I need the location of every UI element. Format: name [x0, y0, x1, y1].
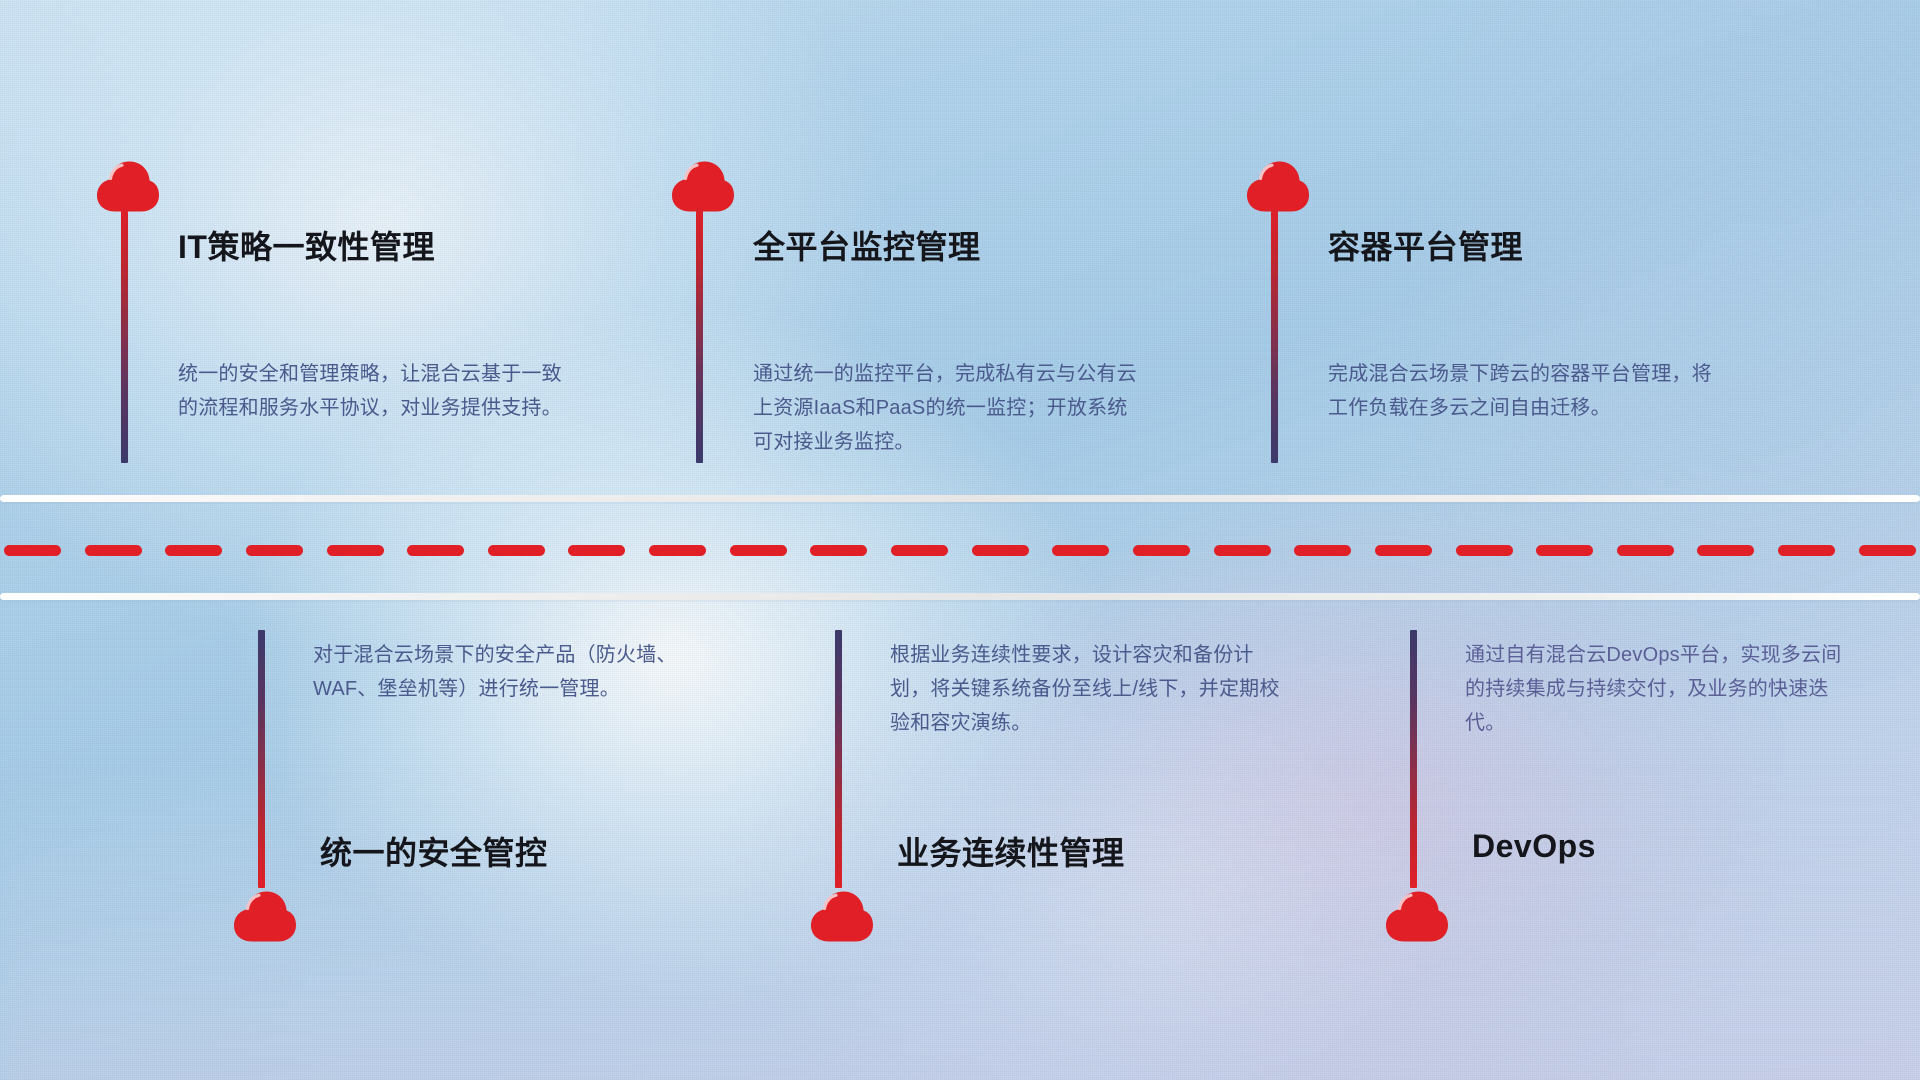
road-line-lower	[0, 593, 1920, 600]
cloud-icon	[1384, 890, 1450, 942]
bottom-item-2-title: 业务连续性管理	[897, 828, 1125, 874]
connector-stem	[258, 630, 265, 888]
road-dash	[972, 545, 1029, 556]
bottom-item-3-title: DevOps	[1472, 828, 1596, 865]
top-item-1-description: 统一的安全和管理策略，让混合云基于一致的流程和服务水平协议，对业务提供支持。	[178, 357, 568, 425]
road-line-upper	[0, 495, 1920, 502]
top-item-3-description: 完成混合云场景下跨云的容器平台管理，将工作负载在多云之间自由迁移。	[1328, 357, 1718, 425]
road-dash	[1859, 545, 1916, 556]
connector-stem	[1410, 630, 1417, 888]
cloud-icon	[1245, 160, 1311, 212]
road-dash	[730, 545, 787, 556]
road-dash	[1536, 545, 1593, 556]
top-item-2-description: 通过统一的监控平台，完成私有云与公有云上资源IaaS和PaaS的统一监控；开放系…	[753, 357, 1143, 459]
road-dash	[246, 545, 303, 556]
cloud-icon	[809, 890, 875, 942]
top-item-2-title: 全平台监控管理	[753, 222, 981, 268]
connector-stem	[121, 205, 128, 463]
road-dash	[1294, 545, 1351, 556]
cloud-icon	[232, 890, 298, 942]
connector-stem	[696, 205, 703, 463]
road-dash	[1052, 545, 1109, 556]
road-dash	[1456, 545, 1513, 556]
road-dashed-divider	[0, 545, 1920, 556]
bottom-item-1-title: 统一的安全管控	[320, 828, 548, 874]
road-dash	[327, 545, 384, 556]
road-dash	[1214, 545, 1271, 556]
bottom-item-3-description: 通过自有混合云DevOps平台，实现多云间的持续集成与持续交付，及业务的快速迭代…	[1465, 638, 1855, 740]
road-dash	[1375, 545, 1432, 556]
road-dash	[4, 545, 61, 556]
road-dash	[85, 545, 142, 556]
connector-stem	[835, 630, 842, 888]
road-dash	[165, 545, 222, 556]
road-dash	[407, 545, 464, 556]
bottom-item-1-description: 对于混合云场景下的安全产品（防火墙、WAF、堡垒机等）进行统一管理。	[313, 638, 703, 706]
infographic-canvas: IT策略一致性管理 统一的安全和管理策略，让混合云基于一致的流程和服务水平协议，…	[0, 0, 1920, 1080]
road-dash	[1697, 545, 1754, 556]
top-item-1-title: IT策略一致性管理	[178, 222, 435, 268]
road-dash	[891, 545, 948, 556]
road-dash	[1133, 545, 1190, 556]
road-dash	[810, 545, 867, 556]
road-dash	[488, 545, 545, 556]
road-dash	[1778, 545, 1835, 556]
connector-stem	[1271, 205, 1278, 463]
cloud-icon	[670, 160, 736, 212]
road-dash	[568, 545, 625, 556]
road-dash	[649, 545, 706, 556]
bottom-item-2-description: 根据业务连续性要求，设计容灾和备份计划，将关键系统备份至线上/线下，并定期校验和…	[890, 638, 1280, 740]
top-item-3-title: 容器平台管理	[1328, 222, 1523, 268]
road-dash	[1617, 545, 1674, 556]
cloud-icon	[95, 160, 161, 212]
